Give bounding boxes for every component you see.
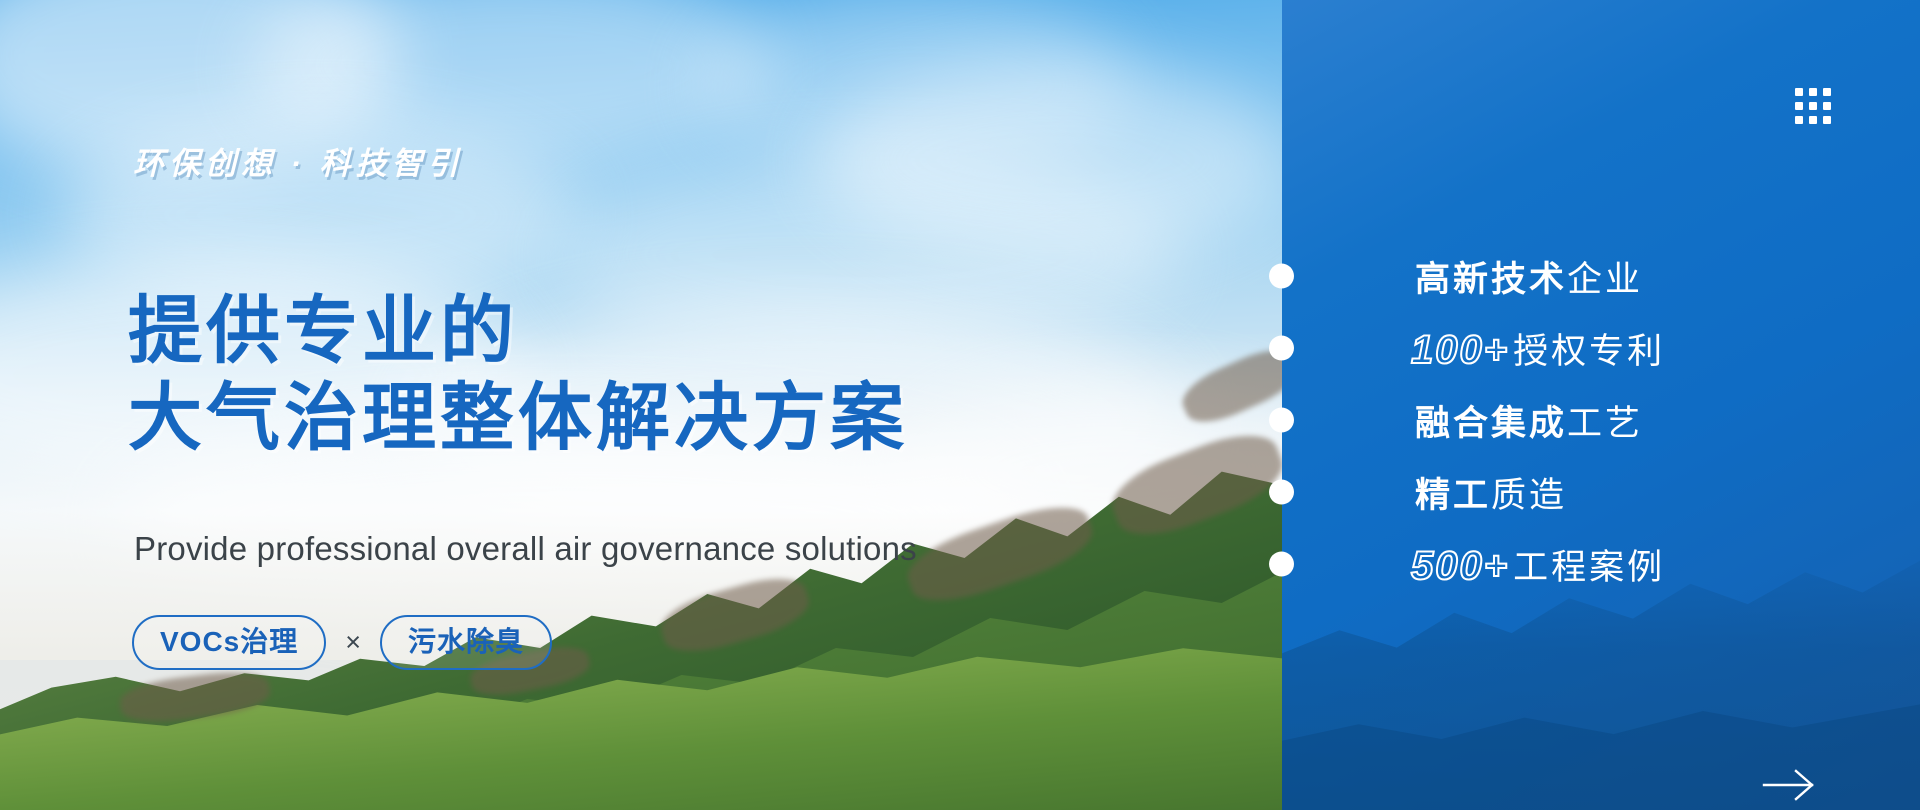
grid-dot — [1809, 102, 1817, 110]
page-title: 提供专业的 大气治理整体解决方案 — [128, 288, 908, 461]
feature-label: 融合集成工艺 — [1411, 395, 1643, 446]
tag-pill-deodorization[interactable]: 污水除臭 — [380, 615, 552, 670]
feature-strong: 高新技术 — [1415, 260, 1567, 299]
bullet-dot-icon — [1269, 336, 1294, 361]
grid-dot — [1795, 88, 1803, 96]
feature-label: 精工质造 — [1411, 467, 1567, 518]
feature-light: 工艺 — [1567, 404, 1643, 443]
grid-dot — [1823, 88, 1831, 96]
feature-item-craftsmanship[interactable]: 精工质造 — [1282, 456, 1920, 528]
hero-copy: 环保创想 · 科技智引 提供专业的 大气治理整体解决方案 Provide pro… — [0, 0, 1286, 810]
feature-list: 高新技术企业 100+授权专利 融合集成工艺 精工质造 500+工程案例 — [1282, 240, 1920, 600]
feature-item-integration[interactable]: 融合集成工艺 — [1282, 384, 1920, 456]
grid-dot — [1795, 116, 1803, 124]
feature-item-projects[interactable]: 500+工程案例 — [1282, 528, 1920, 600]
hero-banner: 环保创想 · 科技智引 提供专业的 大气治理整体解决方案 Provide pro… — [0, 0, 1920, 810]
feature-number: 100+ — [1411, 328, 1513, 372]
headline-line-2: 大气治理整体解决方案 — [128, 375, 908, 462]
feature-strong: 融合集成 — [1415, 404, 1567, 443]
bullet-dot-icon — [1269, 408, 1294, 433]
tag-separator-icon: × — [345, 627, 361, 658]
grid-dot — [1809, 88, 1817, 96]
feature-light: 质造 — [1491, 476, 1567, 515]
feature-number: 500+ — [1411, 544, 1513, 588]
tag-pill-group: VOCs治理 × 污水除臭 — [132, 615, 552, 670]
feature-light: 企业 — [1567, 260, 1643, 299]
tag-pill-vocs[interactable]: VOCs治理 — [132, 615, 326, 670]
feature-strong: 精工 — [1415, 476, 1491, 515]
feature-item-patents[interactable]: 100+授权专利 — [1282, 312, 1920, 384]
headline-line-1: 提供专业的 — [128, 288, 908, 375]
feature-label: 高新技术企业 — [1411, 251, 1643, 302]
bullet-dot-icon — [1269, 480, 1294, 505]
feature-label: 100+授权专利 — [1411, 323, 1665, 374]
grid-dot — [1823, 116, 1831, 124]
feature-light: 授权专利 — [1513, 332, 1665, 371]
grid-menu-icon[interactable] — [1795, 88, 1831, 124]
feature-item-high-tech[interactable]: 高新技术企业 — [1282, 240, 1920, 312]
subtitle-english: Provide professional overall air governa… — [134, 530, 917, 568]
arrow-right-icon[interactable] — [1760, 765, 1818, 805]
feature-label: 500+工程案例 — [1411, 539, 1665, 590]
bullet-dot-icon — [1269, 264, 1294, 289]
grid-dot — [1823, 102, 1831, 110]
bullet-dot-icon — [1269, 552, 1294, 577]
grid-dot — [1809, 116, 1817, 124]
eyebrow-slogan: 环保创想 · 科技智引 — [133, 138, 464, 183]
grid-dot — [1795, 102, 1803, 110]
feature-light: 工程案例 — [1513, 548, 1665, 587]
